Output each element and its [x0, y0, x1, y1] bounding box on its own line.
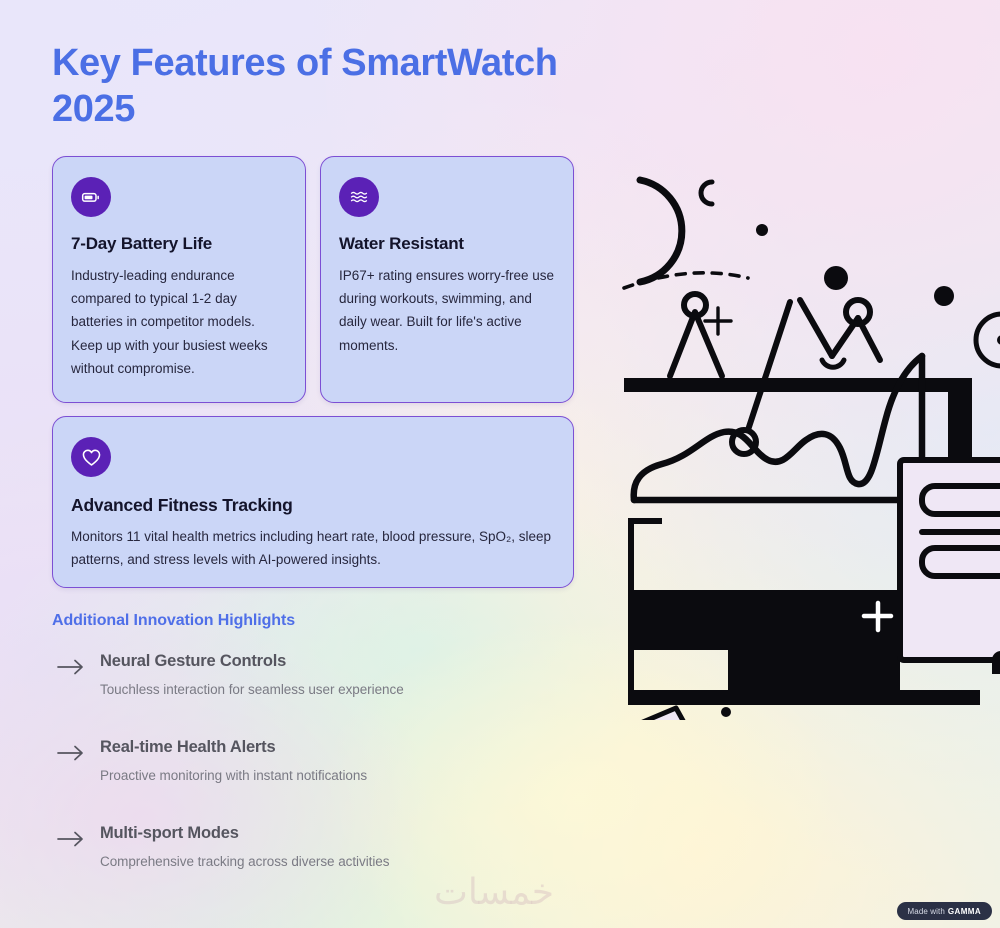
page-title: Key Features of SmartWatch 2025	[52, 40, 572, 133]
made-with-gamma-badge[interactable]: Made with GAMMA	[897, 902, 992, 920]
arrow-right-icon	[56, 744, 86, 762]
highlight-subtitle: Touchless interaction for seamless user …	[100, 682, 572, 697]
highlight-subtitle: Comprehensive tracking across diverse ac…	[100, 854, 572, 869]
card-body: Monitors 11 vital health metrics includi…	[71, 525, 555, 571]
feature-card-battery: 7-Day Battery Life Industry-leading endu…	[52, 156, 306, 403]
card-body: IP67+ rating ensures worry-free use duri…	[339, 264, 555, 357]
arrow-right-icon	[56, 830, 86, 848]
water-waves-icon	[339, 177, 379, 217]
card-body: Industry-leading endurance compared to t…	[71, 264, 287, 380]
battery-icon	[71, 177, 111, 217]
heart-icon	[71, 437, 111, 477]
badge-prefix: Made with	[908, 907, 945, 916]
badge-brand: GAMMA	[948, 907, 981, 916]
highlight-title: Neural Gesture Controls	[100, 652, 572, 671]
highlight-title: Multi-sport Modes	[100, 824, 572, 843]
khamsat-watermark: خمسات	[434, 872, 554, 913]
highlights-heading: Additional Innovation Highlights	[52, 612, 295, 630]
card-title: Advanced Fitness Tracking	[71, 495, 555, 516]
feature-card-water-resistant: Water Resistant IP67+ rating ensures wor…	[320, 156, 574, 403]
card-title: Water Resistant	[339, 234, 555, 254]
arrow-right-icon	[56, 658, 86, 676]
highlight-subtitle: Proactive monitoring with instant notifi…	[100, 768, 572, 783]
highlight-title: Real-time Health Alerts	[100, 738, 572, 757]
highlight-item[interactable]: Neural Gesture Controls Touchless intera…	[52, 652, 572, 714]
card-title: 7-Day Battery Life	[71, 234, 287, 254]
highlight-item[interactable]: Real-time Health Alerts Proactive monito…	[52, 738, 572, 800]
feature-card-fitness-tracking: Advanced Fitness Tracking Monitors 11 vi…	[52, 416, 574, 588]
